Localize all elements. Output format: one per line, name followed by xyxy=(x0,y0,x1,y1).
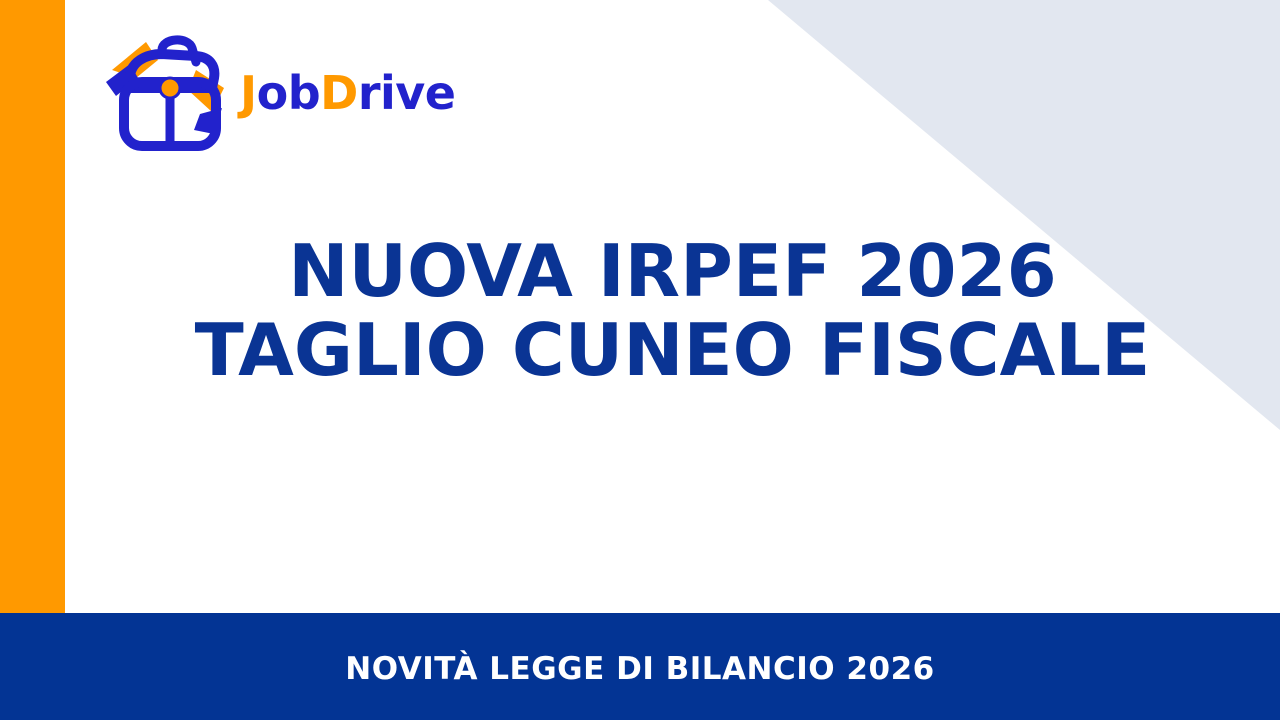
slide-title-line-2: TAGLIO CUNEO FISCALE xyxy=(65,311,1280,390)
presentation-slide: JobDrive NUOVA IRPEF 2026 TAGLIO CUNEO F… xyxy=(0,0,1280,720)
logo-wordmark-rive: rive xyxy=(358,66,456,120)
logo-wordmark-j: J xyxy=(240,66,257,120)
logo-wordmark: JobDrive xyxy=(240,70,455,116)
footer-subtitle: NOVITÀ LEGGE DI BILANCIO 2026 xyxy=(345,651,934,687)
slide-title: NUOVA IRPEF 2026 TAGLIO CUNEO FISCALE xyxy=(65,232,1280,390)
left-orange-accent-bar xyxy=(0,0,65,613)
footer-banner: NOVITÀ LEGGE DI BILANCIO 2026 xyxy=(0,613,1280,720)
logo-lockup: JobDrive xyxy=(100,26,455,156)
logo-wordmark-d: D xyxy=(320,66,358,120)
logo-wordmark-ob: ob xyxy=(257,66,321,120)
slide-title-line-1: NUOVA IRPEF 2026 xyxy=(65,232,1280,311)
briefcase-bag-icon xyxy=(100,26,240,156)
